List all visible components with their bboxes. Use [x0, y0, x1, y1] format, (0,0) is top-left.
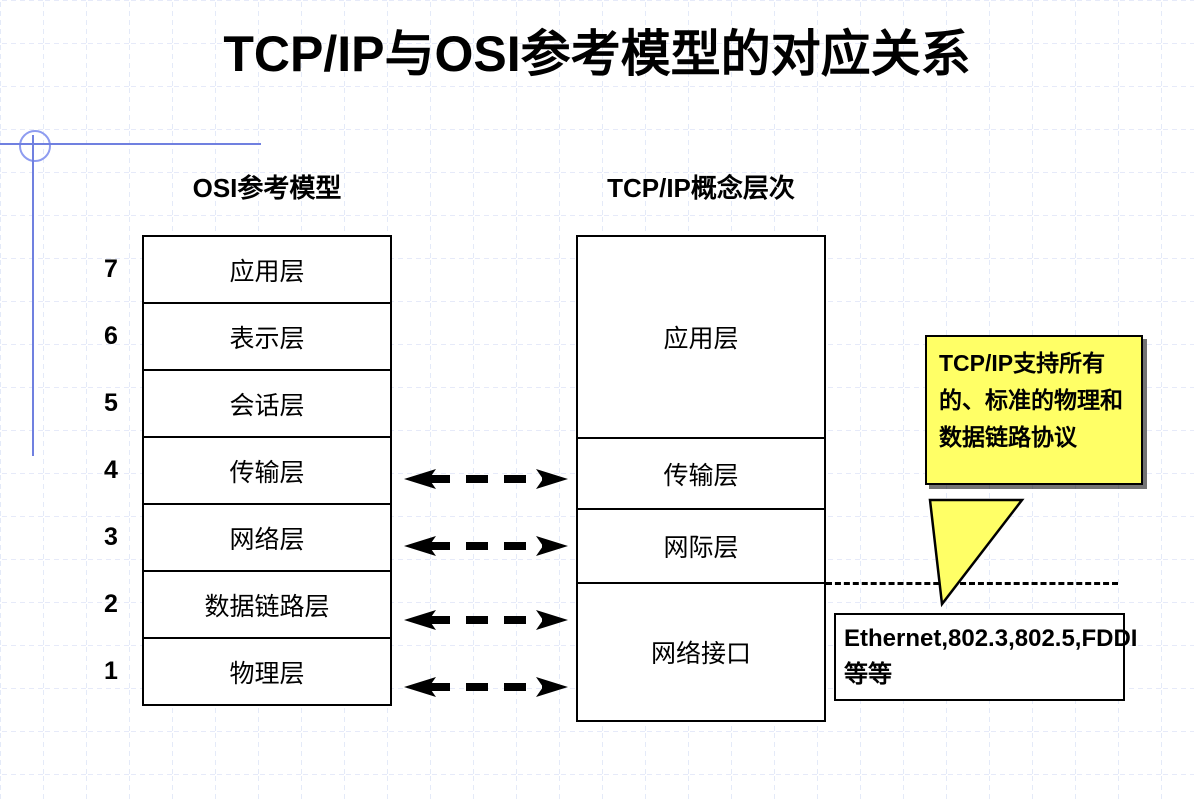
tcpip-layer-row[interactable]: 网际层 [578, 510, 824, 584]
osi-layer-stack: 7 应用层 6 表示层 5 会话层 4 传输层 3 网络层 2 数据链路层 1 … [142, 235, 392, 706]
osi-layer-row[interactable]: 4 传输层 [144, 438, 390, 505]
mapping-arrow-physical [402, 675, 570, 699]
osi-layer-row[interactable]: 5 会话层 [144, 371, 390, 438]
tcpip-layer-label: 网络接口 [651, 634, 751, 670]
osi-layer-number: 6 [94, 322, 128, 351]
mapping-arrow-datalink [402, 608, 570, 632]
decor-horizontal-rule [0, 143, 261, 145]
osi-layer-number: 2 [94, 590, 128, 619]
tcpip-column-heading: TCP/IP概念层次 [576, 168, 826, 205]
decor-circle-icon [19, 130, 51, 162]
osi-layer-label: 应用层 [229, 252, 304, 288]
osi-layer-number: 5 [94, 389, 128, 418]
callout-box: TCP/IP支持所有的、标准的物理和数据链路协议 [925, 335, 1143, 485]
tcpip-layer-label: 网际层 [663, 528, 738, 564]
osi-layer-number: 3 [94, 523, 128, 552]
protocol-list-box: Ethernet,802.3,802.5,FDDI等等 [834, 613, 1125, 701]
callout-tail [920, 498, 1040, 608]
osi-layer-number: 4 [94, 456, 128, 485]
osi-layer-label: 传输层 [229, 453, 304, 489]
tcpip-layer-label: 应用层 [663, 319, 738, 355]
page-title: TCP/IP与OSI参考模型的对应关系 [0, 14, 1194, 86]
osi-layer-row[interactable]: 7 应用层 [144, 237, 390, 304]
osi-layer-label: 数据链路层 [204, 587, 329, 623]
osi-layer-label: 表示层 [229, 319, 304, 355]
osi-layer-row[interactable]: 3 网络层 [144, 505, 390, 572]
decor-vertical-rule [32, 135, 34, 456]
tcpip-layer-stack: 应用层 传输层 网际层 网络接口 [576, 235, 826, 722]
osi-layer-row[interactable]: 6 表示层 [144, 304, 390, 371]
osi-layer-label: 网络层 [229, 520, 304, 556]
tcpip-layer-row[interactable]: 应用层 [578, 237, 824, 439]
tcpip-layer-row[interactable]: 传输层 [578, 439, 824, 510]
osi-layer-label: 物理层 [229, 654, 304, 690]
osi-layer-row[interactable]: 1 物理层 [144, 639, 390, 706]
tcpip-layer-label: 传输层 [663, 456, 738, 492]
tcpip-layer-row[interactable]: 网络接口 [578, 584, 824, 722]
osi-layer-number: 7 [94, 255, 128, 284]
osi-layer-number: 1 [94, 657, 128, 686]
osi-layer-label: 会话层 [229, 386, 304, 422]
mapping-arrow-network [402, 534, 570, 558]
mapping-arrow-transport [402, 467, 570, 491]
osi-layer-row[interactable]: 2 数据链路层 [144, 572, 390, 639]
osi-column-heading: OSI参考模型 [142, 168, 392, 205]
